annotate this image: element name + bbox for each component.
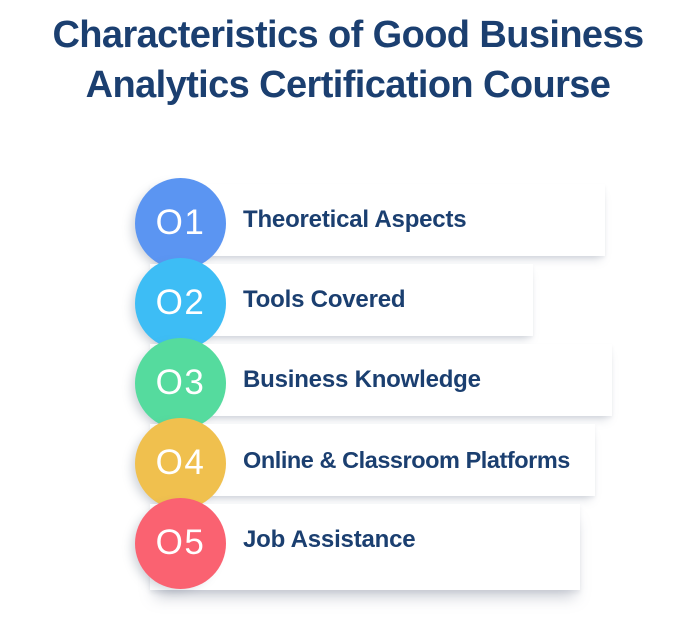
list-item: O1 Theoretical Aspects: [0, 178, 696, 270]
infographic-canvas: Characteristics of Good Business Analyti…: [0, 0, 696, 625]
list-item-number: O5: [156, 525, 206, 560]
list-item: O3 Business Knowledge: [0, 338, 696, 430]
list-item-number: O2: [156, 285, 206, 320]
list-item-label: Online & Classroom Platforms: [243, 418, 570, 502]
list-item-label: Theoretical Aspects: [243, 178, 466, 262]
list-item-number: O4: [156, 445, 206, 480]
list-item-number-badge: O1: [135, 178, 226, 269]
characteristics-list: O1 Theoretical Aspects O2 Tools Covered …: [0, 178, 696, 625]
list-item-number: O3: [156, 365, 206, 400]
list-item-label: Business Knowledge: [243, 338, 481, 422]
list-item: O4 Online & Classroom Platforms: [0, 418, 696, 510]
list-item-number-badge: O4: [135, 418, 226, 509]
page-title-line-2: Analytics Certification Course: [14, 60, 682, 110]
list-item: O2 Tools Covered: [0, 258, 696, 350]
list-item-number-badge: O3: [135, 338, 226, 429]
list-item-label: Tools Covered: [243, 258, 405, 342]
list-item-number: O1: [156, 205, 206, 240]
list-item: O5 Job Assistance: [0, 498, 696, 590]
list-item-number-badge: O2: [135, 258, 226, 349]
list-item-label: Job Assistance: [243, 498, 415, 582]
page-title-line-1: Characteristics of Good Business: [14, 10, 682, 60]
page-title: Characteristics of Good Business Analyti…: [0, 10, 696, 110]
list-item-number-badge: O5: [135, 498, 226, 589]
